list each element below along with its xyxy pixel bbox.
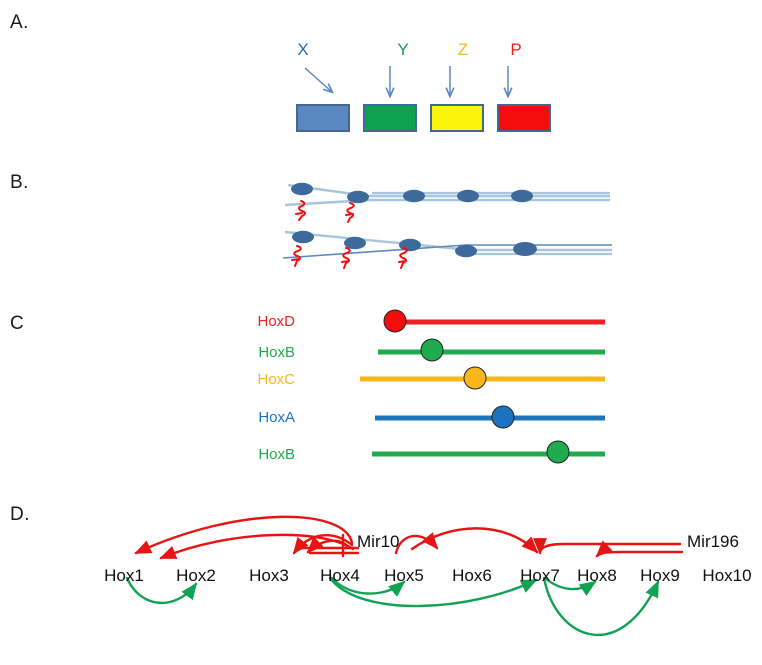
chromatin-row-bottom	[283, 231, 612, 268]
gene-marker-dot	[384, 310, 406, 332]
gene-label-hox2: Hox2	[164, 566, 228, 586]
gene-box-z	[430, 104, 484, 132]
input-label-z: Z	[443, 40, 483, 60]
panel-letter-a: A.	[10, 12, 29, 34]
nucleosome	[291, 183, 313, 195]
nucleosome	[455, 245, 477, 257]
input-label-y: Y	[383, 40, 423, 60]
repression-edges	[136, 517, 682, 558]
panel-letter-d: D.	[10, 504, 30, 526]
edge-mir196-to-hox7	[540, 544, 680, 553]
gene-label-hox10: Hox10	[695, 566, 759, 586]
gene-box-x	[296, 104, 350, 132]
nucleosome	[457, 190, 479, 202]
cluster-label-hoxb-1: HoxB	[205, 344, 295, 361]
gene-label-hox7: Hox7	[508, 566, 572, 586]
activation-edges	[127, 578, 658, 635]
nucleosome	[513, 242, 537, 256]
edge-mir10-to-hox3	[294, 535, 352, 553]
gene-label-hox4: Hox4	[308, 566, 372, 586]
nucleosome	[344, 237, 366, 249]
cluster-label-hoxc: HoxC	[205, 371, 295, 388]
panel-letter-b: B.	[10, 172, 29, 194]
gene-label-hox5: Hox5	[372, 566, 436, 586]
arrow-x-to-box	[305, 68, 332, 92]
nucleosome	[511, 190, 533, 202]
dna-strand-top-upper	[288, 185, 610, 196]
cluster-label-hoxb-2: HoxB	[205, 446, 295, 463]
cluster-track-hoxa	[375, 406, 605, 428]
gene-label-hox6: Hox6	[440, 566, 504, 586]
edge-hox7-to-hox9	[544, 578, 658, 635]
edge-mir10-to-hox4	[308, 541, 349, 552]
gene-marker-dot	[464, 367, 486, 389]
rna-squiggle	[342, 248, 350, 268]
gene-label-hox1: Hox1	[92, 566, 156, 586]
chromatin-row-top	[285, 183, 610, 222]
mirna-label-mir10: Mir10	[357, 532, 400, 552]
gene-marker-dot	[492, 406, 514, 428]
gene-box-p	[497, 104, 551, 132]
input-label-x: X	[283, 40, 323, 60]
gene-label-hox8: Hox8	[565, 566, 629, 586]
nucleosome	[403, 190, 425, 202]
cluster-track-hoxb-1	[378, 339, 605, 361]
panel-letter-c: C	[10, 313, 24, 335]
gene-label-hox9: Hox9	[628, 566, 692, 586]
nucleosome	[347, 191, 369, 203]
gene-marker-dot	[421, 339, 443, 361]
cluster-label-hoxd: HoxD	[205, 313, 295, 330]
edge-mir196-to-hox8	[597, 552, 682, 556]
rna-squiggle	[292, 246, 301, 266]
gene-box-y	[363, 104, 417, 132]
cluster-track-hoxb-2	[372, 441, 605, 463]
rna-squiggle	[296, 201, 305, 220]
edge-mir10-to-hox2	[161, 535, 353, 558]
gene-marker-dot	[547, 441, 569, 463]
edge-mir10-to-hox5	[396, 536, 437, 553]
rna-squiggle	[399, 248, 407, 268]
rna-squiggle	[346, 203, 354, 222]
dna-strand-top-lower	[285, 200, 610, 205]
cluster-track-hoxd	[384, 310, 605, 332]
nucleosome	[399, 239, 421, 251]
mirna-label-mir196: Mir196	[687, 532, 739, 552]
edge-mir10-to-hox7-sweep	[412, 528, 537, 552]
cluster-label-hoxa: HoxA	[205, 409, 295, 426]
edge-mir10-to-hox1	[136, 517, 352, 553]
cluster-track-hoxc	[360, 367, 605, 389]
figure-canvas: A. B. C D. X Y Z P	[0, 0, 762, 665]
dna-strand-bottom-lower	[283, 245, 612, 258]
nucleosome	[292, 231, 314, 243]
dna-strand-bottom-upper	[285, 232, 612, 250]
input-label-p: P	[496, 40, 536, 60]
gene-label-hox3: Hox3	[237, 566, 301, 586]
